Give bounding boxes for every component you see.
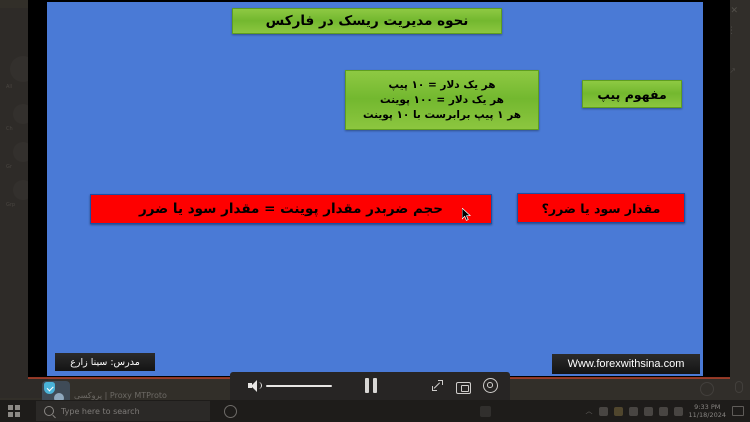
printer-icon[interactable] bbox=[629, 407, 638, 416]
cortana-icon[interactable] bbox=[224, 405, 237, 418]
search-input[interactable]: Type here to search bbox=[36, 401, 210, 421]
collapse-icon[interactable]: ↗ bbox=[729, 66, 736, 75]
onedrive-icon[interactable] bbox=[599, 407, 608, 416]
telegram-notification-label: Proxy MTProto | پروکسی bbox=[74, 391, 167, 400]
microphone-icon[interactable] bbox=[735, 381, 743, 393]
volume-slider[interactable] bbox=[266, 385, 332, 387]
speaker-icon[interactable] bbox=[248, 379, 261, 392]
video-player[interactable]: نحوه مدیریت ریسک در فارکس مفهوم پیپ هر ی… bbox=[28, 0, 730, 378]
controls-top-row bbox=[230, 372, 510, 400]
app-tray-icon[interactable] bbox=[614, 407, 623, 416]
pip-concept-label: مفهوم پیپ bbox=[582, 80, 682, 108]
gear-icon[interactable] bbox=[483, 378, 498, 393]
presentation-slide: نحوه مدیریت ریسک در فارکس مفهوم پیپ هر ی… bbox=[47, 2, 703, 376]
profit-loss-question: مقدار سود یا ضرر؟ bbox=[517, 193, 685, 223]
emoji-icon[interactable] bbox=[700, 382, 714, 396]
clock-date: 11/18/2024 bbox=[689, 411, 726, 419]
taskbar-app-buttons bbox=[480, 400, 491, 422]
pip-definition-line: هر ۱ پیپ برابرست با ۱۰ پوینت bbox=[346, 108, 538, 122]
website-label: Www.forexwithsina.com bbox=[552, 354, 700, 374]
slide-title: نحوه مدیریت ریسک در فارکس bbox=[232, 8, 502, 34]
pause-button[interactable] bbox=[365, 378, 377, 393]
system-tray: ︿ 9:33 PM 11/18/2024 bbox=[586, 400, 744, 422]
profit-loss-formula: حجم ضربدر مقدار پوینت = مقدار سود یا ضرر bbox=[90, 194, 492, 224]
screen: All Ch Gr Grp ✕ ⋮ ↗ Proxy MTProto | پروک… bbox=[0, 0, 750, 422]
windows-start-icon[interactable] bbox=[8, 405, 20, 417]
close-icon[interactable]: ✕ bbox=[730, 6, 738, 16]
search-placeholder: Type here to search bbox=[61, 407, 140, 416]
volume-control[interactable] bbox=[248, 379, 332, 392]
battery-icon[interactable] bbox=[674, 407, 683, 416]
show-hidden-icons-icon[interactable]: ︿ bbox=[586, 406, 593, 416]
expand-icon[interactable] bbox=[431, 379, 444, 392]
taskbar: Type here to search ︿ 9:33 PM 11/18/2024 bbox=[0, 400, 750, 422]
network-icon[interactable] bbox=[644, 407, 653, 416]
clock-time: 9:33 PM bbox=[689, 403, 726, 411]
instructor-label: مدرس: سینا زارع bbox=[55, 353, 155, 371]
pip-definitions-box: هر یک دلار = ۱۰ پیپ هر یک دلار = ۱۰۰ پوی… bbox=[345, 70, 539, 130]
picture-in-picture-icon[interactable] bbox=[456, 382, 471, 394]
controls-right-icons bbox=[431, 378, 498, 393]
pip-definition-line: هر یک دلار = ۱۰۰ پوینت bbox=[346, 93, 538, 107]
taskbar-app-icon[interactable] bbox=[480, 406, 491, 417]
search-icon bbox=[44, 406, 54, 416]
volume-tray-icon[interactable] bbox=[659, 407, 668, 416]
pip-definition-line: هر یک دلار = ۱۰ پیپ bbox=[346, 78, 538, 92]
action-center-icon[interactable] bbox=[732, 406, 744, 416]
taskbar-clock[interactable]: 9:33 PM 11/18/2024 bbox=[689, 403, 726, 419]
mouse-cursor-icon bbox=[462, 208, 471, 221]
